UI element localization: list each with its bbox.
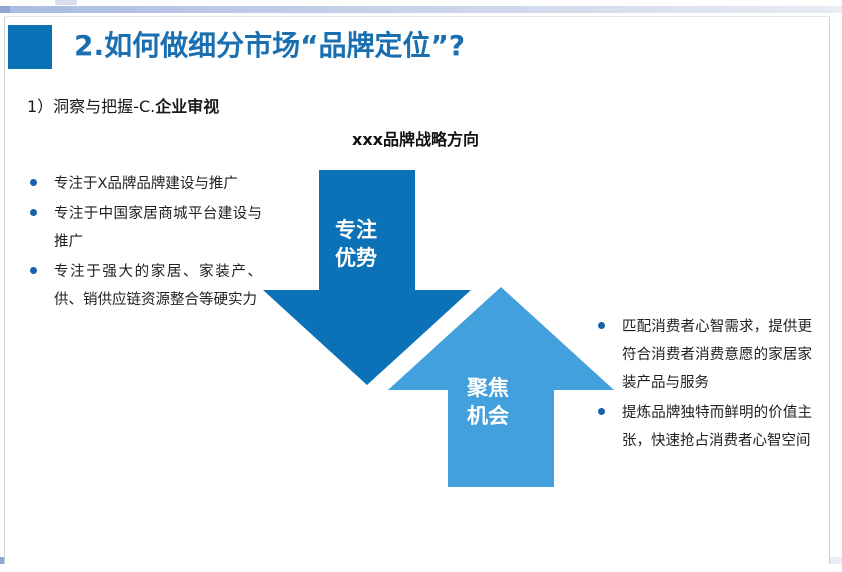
scroll-nub-left[interactable] bbox=[0, 6, 10, 13]
list-item-label: 专注于X品牌品牌建设与推广 bbox=[30, 170, 262, 198]
page-title: 2.如何做细分市场“品牌定位”? bbox=[74, 24, 465, 68]
top-scroll-strip[interactable] bbox=[0, 6, 842, 13]
diagram-heading: xxx品牌战略方向 bbox=[352, 126, 479, 150]
down-arrow-label-line1: 专注 bbox=[326, 216, 386, 244]
down-arrow-label: 专注 优势 bbox=[326, 216, 386, 272]
down-arrow-label-line2: 优势 bbox=[326, 244, 386, 272]
list-item: 专注于中国家居商城平台建设与推广 bbox=[30, 200, 262, 256]
section-subtitle: 1）洞察与把握-C.企业审视 bbox=[27, 93, 219, 117]
up-arrow-label: 聚焦 机会 bbox=[458, 374, 518, 430]
list-item: 专注于强大的家居、家装产、供、销供应链资源整合等硬实力 bbox=[30, 258, 262, 314]
left-bullet-list: 专注于X品牌品牌建设与推广专注于中国家居商城平台建设与推广专注于强大的家居、家装… bbox=[30, 170, 262, 316]
list-item: 匹配消费者心智需求，提供更符合消费者消费意愿的家居家装产品与服务 bbox=[598, 313, 812, 397]
list-item: 提炼品牌独特而鲜明的价值主张，快速抢占消费者心智空间 bbox=[598, 399, 812, 455]
page-top-rule bbox=[4, 16, 830, 17]
right-bullet-list: 匹配消费者心智需求，提供更符合消费者消费意愿的家居家装产品与服务提炼品牌独特而鲜… bbox=[598, 313, 812, 457]
up-arrow-label-line2: 机会 bbox=[458, 402, 518, 430]
top-ruler-mark bbox=[55, 0, 77, 5]
bullet-dot-icon bbox=[30, 209, 37, 216]
list-item-label: 专注于中国家居商城平台建设与推广 bbox=[30, 200, 262, 256]
slide-canvas: 2.如何做细分市场“品牌定位”? 1）洞察与把握-C.企业审视 xxx品牌战略方… bbox=[0, 0, 842, 572]
bullet-dot-icon bbox=[30, 179, 37, 186]
up-arrow-label-line1: 聚焦 bbox=[458, 374, 518, 402]
list-item: 专注于X品牌品牌建设与推广 bbox=[30, 170, 262, 198]
list-item-label: 匹配消费者心智需求，提供更符合消费者消费意愿的家居家装产品与服务 bbox=[598, 313, 812, 397]
subtitle-lead: 1）洞察与把握-C. bbox=[27, 97, 155, 116]
title-accent-square bbox=[8, 25, 52, 69]
bullet-dot-icon bbox=[30, 267, 37, 274]
list-item-label: 专注于强大的家居、家装产、供、销供应链资源整合等硬实力 bbox=[30, 258, 262, 314]
list-item-label: 提炼品牌独特而鲜明的价值主张，快速抢占消费者心智空间 bbox=[598, 399, 812, 455]
subtitle-emphasis: 企业审视 bbox=[155, 97, 219, 116]
